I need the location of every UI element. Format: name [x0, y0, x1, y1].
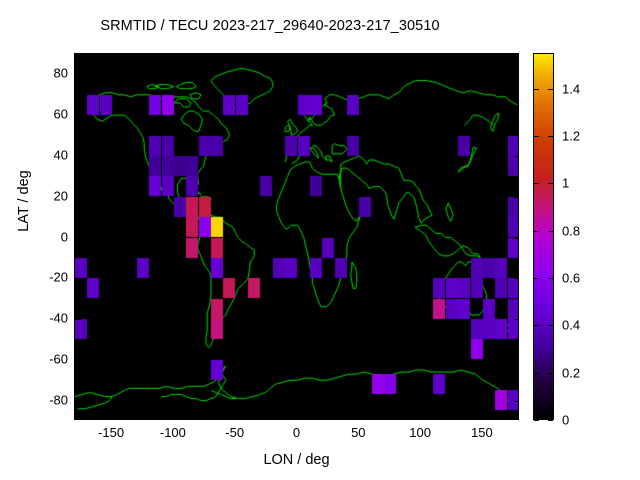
colorbar-tick-mark	[534, 136, 539, 137]
x-tick-mark	[236, 54, 237, 60]
x-tick-mark	[236, 415, 237, 420]
y-tick-mark	[75, 319, 81, 320]
colorbar-tick-mark	[534, 89, 539, 90]
y-tick-mark	[75, 156, 81, 157]
y-tick-mark	[75, 238, 81, 239]
x-tick-label: 0	[293, 425, 300, 440]
x-tick-label: 100	[409, 425, 431, 440]
colorbar-gradient	[533, 53, 554, 420]
y-tick-label: 60	[54, 107, 68, 122]
y-tick-mark	[514, 319, 519, 320]
y-tick-mark	[514, 115, 519, 116]
colorbar-tick-mark	[548, 183, 553, 184]
colorbar	[533, 53, 554, 420]
colorbar-tick-mark	[548, 231, 553, 232]
x-axis-title: LON / deg	[74, 452, 519, 468]
y-tick-label: -40	[49, 311, 68, 326]
y-tick-mark	[75, 115, 81, 116]
colorbar-tick-label: 1.4	[562, 81, 580, 96]
y-tick-label: -20	[49, 270, 68, 285]
colorbar-tick-label: 0.8	[562, 223, 580, 238]
colorbar-tick-label: 0	[562, 413, 569, 428]
y-tick-mark	[514, 197, 519, 198]
y-tick-mark	[514, 360, 519, 361]
y-tick-label: -80	[49, 392, 68, 407]
x-tick-mark	[112, 415, 113, 420]
x-tick-label: -50	[225, 425, 244, 440]
x-tick-mark	[298, 415, 299, 420]
colorbar-tick-mark	[534, 278, 539, 279]
colorbar-tick-label: 0.6	[562, 270, 580, 285]
y-tick-mark	[75, 401, 81, 402]
colorbar-tick-label: 1	[562, 176, 569, 191]
colorbar-tick-label: 0.4	[562, 318, 580, 333]
x-tick-mark	[174, 415, 175, 420]
y-tick-mark	[514, 74, 519, 75]
y-tick-mark	[75, 74, 81, 75]
x-tick-mark	[174, 54, 175, 60]
y-tick-label: -60	[49, 351, 68, 366]
colorbar-tick-mark	[548, 278, 553, 279]
y-tick-mark	[75, 360, 81, 361]
y-tick-mark	[75, 197, 81, 198]
colorbar-tick-mark	[548, 373, 553, 374]
x-tick-label: 50	[351, 425, 365, 440]
y-tick-mark	[514, 156, 519, 157]
x-tick-mark	[359, 54, 360, 60]
plot-area	[74, 53, 519, 420]
y-tick-label: 0	[61, 229, 68, 244]
figure-root: SRMTID / TECU 2023-217_29640-2023-217_30…	[0, 0, 640, 480]
x-tick-mark	[112, 54, 113, 60]
colorbar-tick-label: 1.2	[562, 128, 580, 143]
colorbar-tick-mark	[534, 231, 539, 232]
colorbar-tick-mark	[534, 325, 539, 326]
y-tick-mark	[75, 278, 81, 279]
x-tick-mark	[421, 415, 422, 420]
x-tick-label: -100	[160, 425, 186, 440]
heatmap-data-layer	[75, 54, 519, 420]
colorbar-tick-mark	[534, 373, 539, 374]
y-tick-label: 20	[54, 188, 68, 203]
colorbar-tick-mark	[548, 420, 553, 421]
x-tick-mark	[298, 54, 299, 60]
y-tick-mark	[514, 401, 519, 402]
y-tick-mark	[514, 278, 519, 279]
colorbar-tick-mark	[534, 183, 539, 184]
colorbar-tick-mark	[548, 325, 553, 326]
x-tick-mark	[359, 415, 360, 420]
page-title: SRMTID / TECU 2023-217_29640-2023-217_30…	[0, 18, 540, 34]
x-tick-mark	[483, 54, 484, 60]
colorbar-tick-mark	[548, 136, 553, 137]
x-tick-label: 150	[471, 425, 493, 440]
y-tick-label: 80	[54, 66, 68, 81]
y-axis-title: LAT / deg	[16, 141, 32, 261]
y-tick-label: 40	[54, 147, 68, 162]
colorbar-tick-mark	[534, 420, 539, 421]
x-tick-label: -150	[98, 425, 124, 440]
y-tick-mark	[514, 238, 519, 239]
colorbar-tick-mark	[548, 89, 553, 90]
x-tick-mark	[421, 54, 422, 60]
colorbar-tick-label: 0.2	[562, 365, 580, 380]
x-tick-mark	[483, 415, 484, 420]
